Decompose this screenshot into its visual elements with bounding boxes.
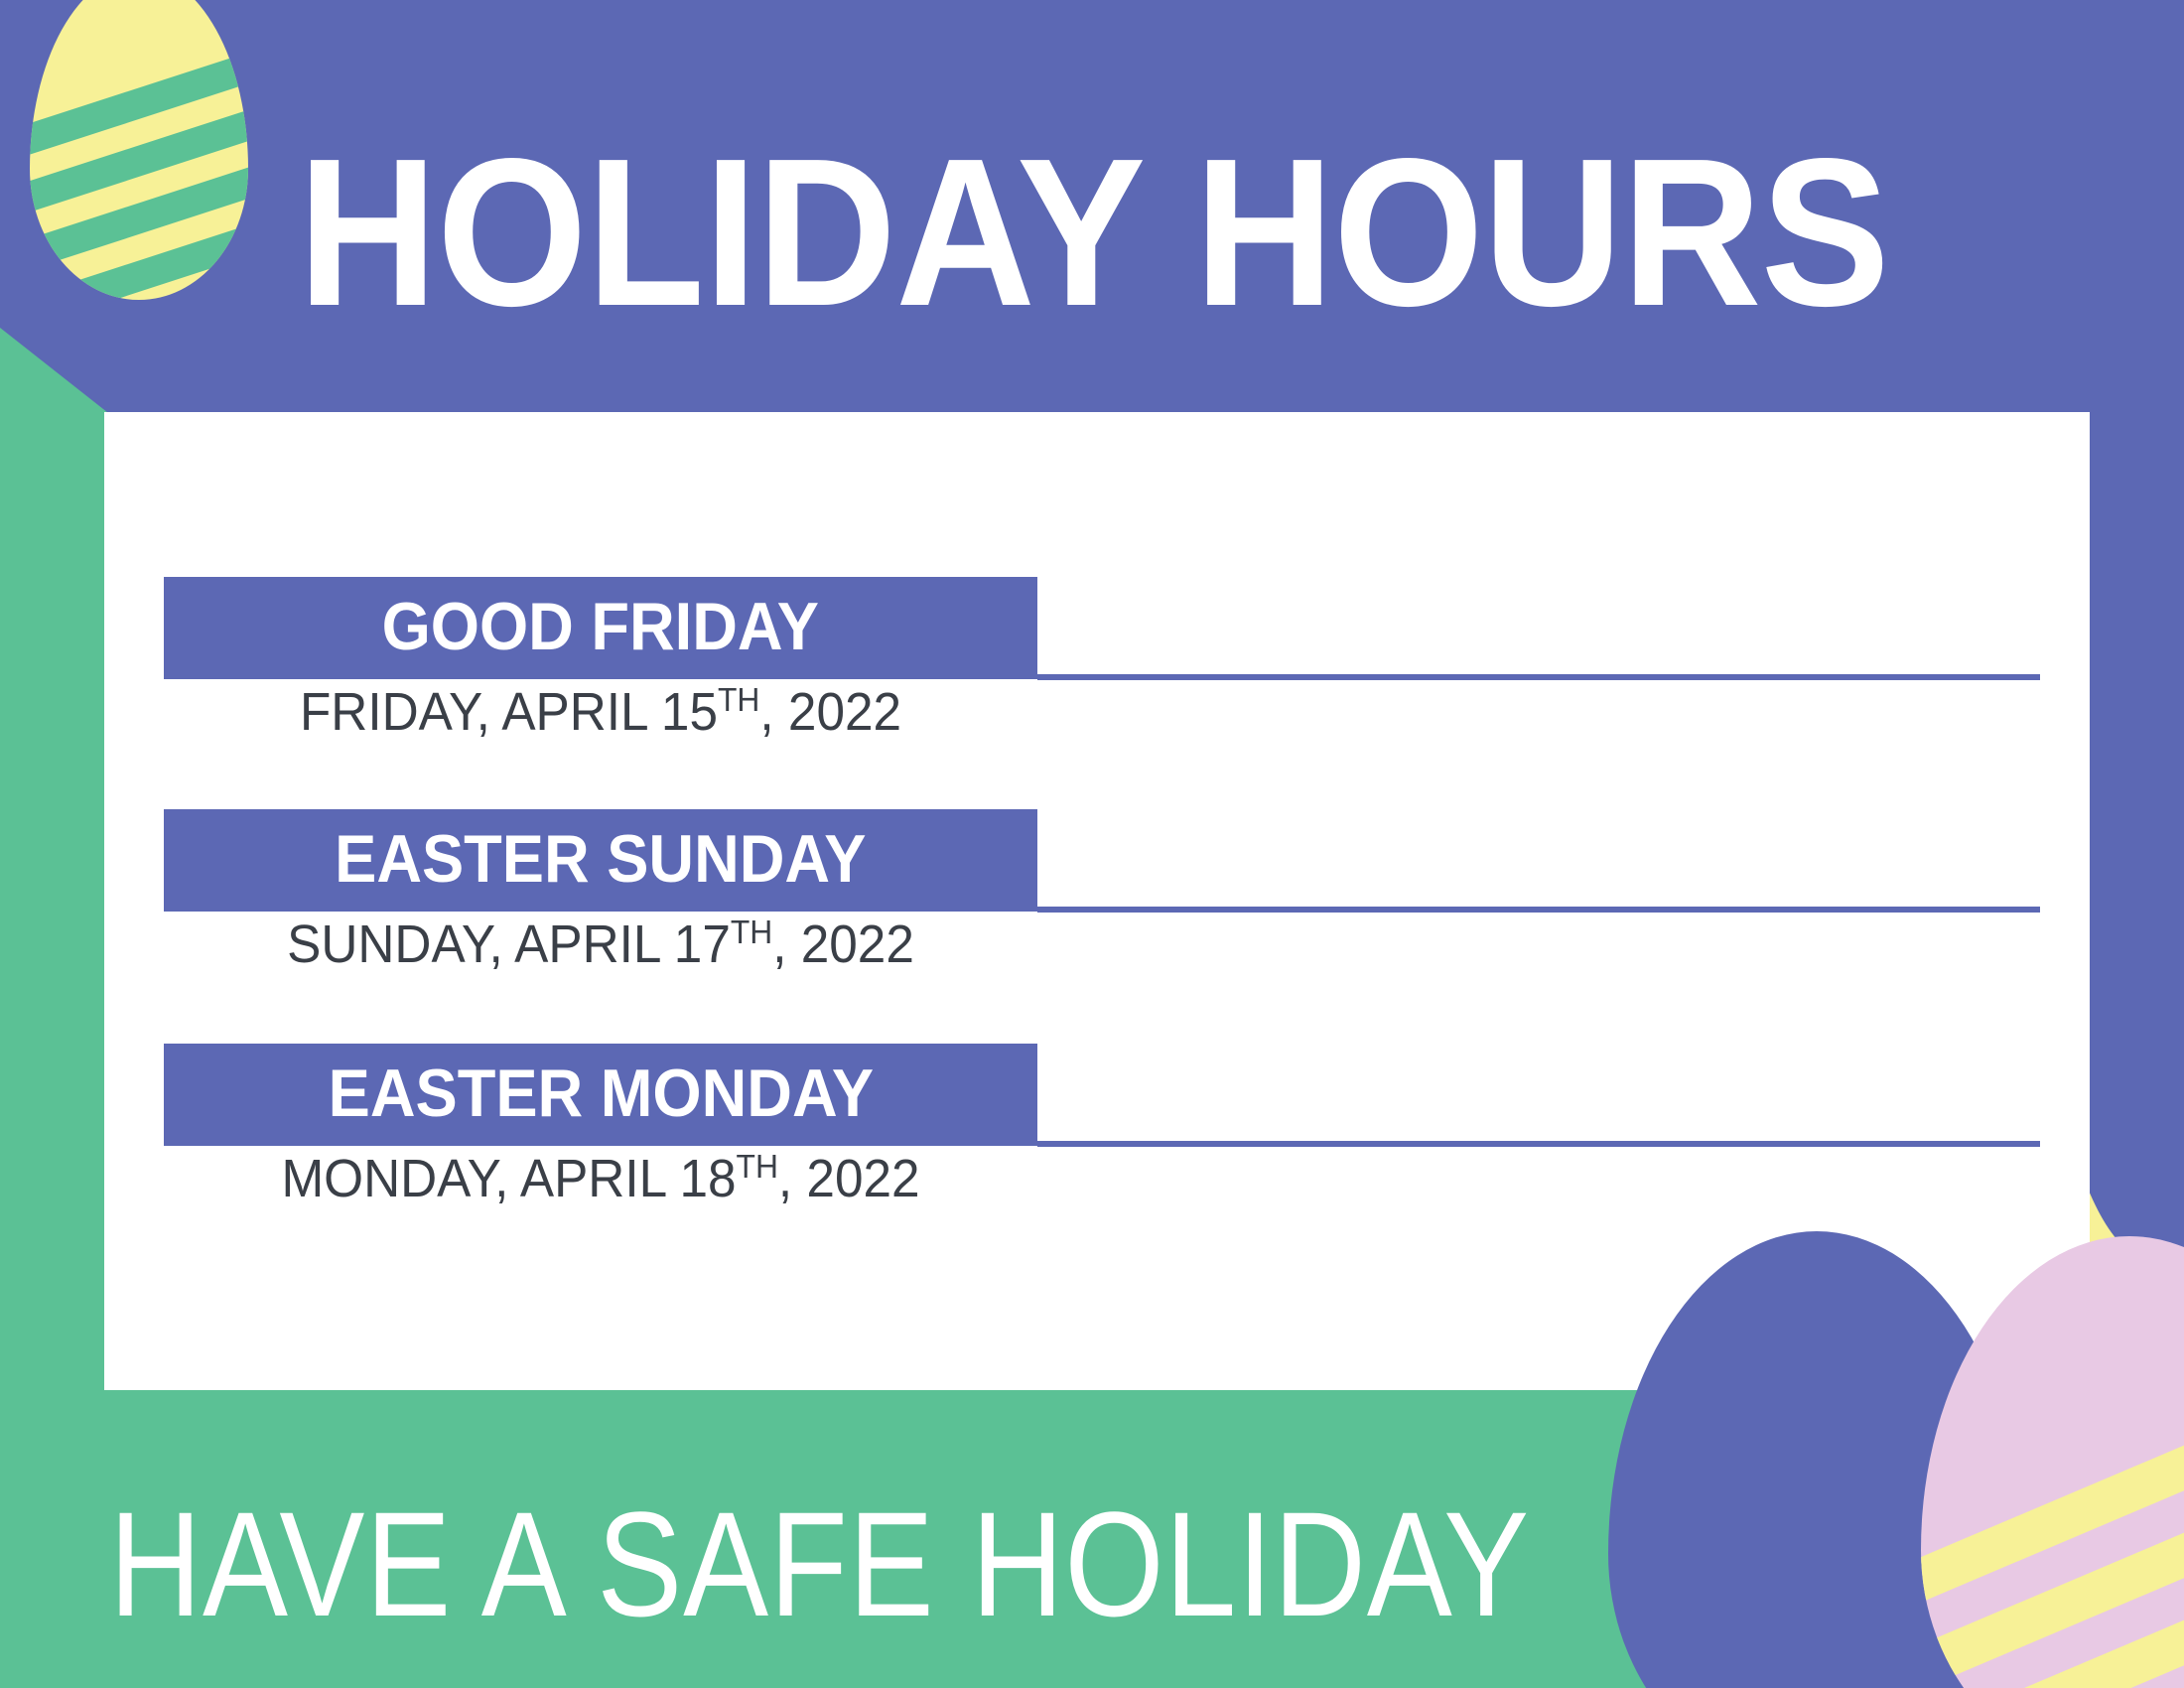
page-title: HOLIDAY HOURS [298, 127, 1850, 338]
green-left-strip [0, 437, 119, 1688]
holiday-date-weekday: MONDAY, APRIL 18 [281, 1149, 736, 1208]
holiday-date-ordinal: TH [731, 914, 772, 951]
holiday-hours-poster: HOLIDAY HOURS GOOD FRIDAY FRIDAY, APRIL … [0, 0, 2184, 1688]
holiday-date: SUNDAY, APRIL 17TH, 2022 [186, 914, 1016, 974]
holiday-name: EASTER SUNDAY [335, 825, 866, 893]
holiday-date-ordinal: TH [737, 1149, 778, 1186]
easter-egg-icon-top-left [30, 0, 248, 300]
holiday-name-band: EASTER MONDAY [164, 1044, 1037, 1146]
holiday-name: EASTER MONDAY [328, 1059, 873, 1127]
holiday-date-year: , 2022 [772, 914, 914, 974]
holiday-date-weekday: SUNDAY, APRIL 17 [287, 914, 731, 974]
hours-write-in-line[interactable] [1037, 1141, 2040, 1147]
holiday-date-year: , 2022 [778, 1149, 920, 1208]
hours-write-in-line[interactable] [1037, 907, 2040, 913]
holiday-date: FRIDAY, APRIL 15TH, 2022 [186, 682, 1016, 742]
hours-write-in-line[interactable] [1037, 674, 2040, 680]
easter-egg-icon-bottom-right [1921, 1236, 2184, 1688]
holiday-date-ordinal: TH [718, 682, 759, 719]
holiday-date: MONDAY, APRIL 18TH, 2022 [186, 1149, 1016, 1208]
holiday-name-band: GOOD FRIDAY [164, 577, 1037, 679]
holiday-date-weekday: FRIDAY, APRIL 15 [300, 682, 718, 742]
holiday-date-year: , 2022 [759, 682, 901, 742]
footer-message: HAVE A SAFE HOLIDAY [109, 1489, 1530, 1638]
holiday-name: GOOD FRIDAY [382, 593, 819, 660]
holiday-name-band: EASTER SUNDAY [164, 809, 1037, 912]
